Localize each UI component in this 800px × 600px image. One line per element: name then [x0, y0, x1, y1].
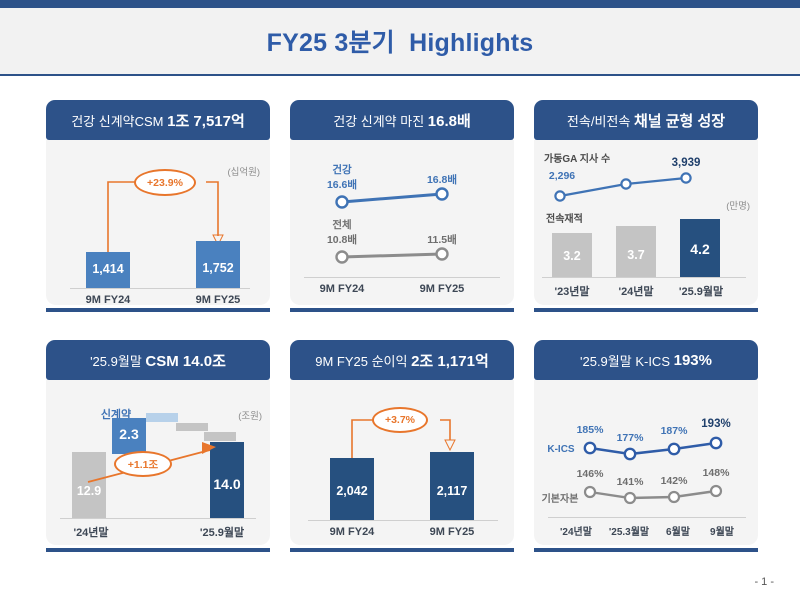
panel-net-income: 9M FY25 순이익 2조 1,171억 +3.7% 2,042 2,117 …: [290, 340, 514, 552]
bar-value: 1,752: [196, 261, 240, 275]
bar-9m-fy24: 2,042: [330, 458, 374, 520]
panel-header: 건강 신계약 마진 16.8배: [290, 100, 514, 140]
panel-health-new-margin: 건강 신계약 마진 16.8배 건강 16.6배 16.8배 전체 10.8배 …: [290, 100, 514, 312]
panel-title-bold: 193%: [674, 352, 712, 369]
panel-body: (조원) 신계약 12.9 2.3 14.0: [46, 380, 270, 545]
x-label: 9M FY24: [72, 294, 144, 305]
panel-title-normal: 건강 신계약CSM: [71, 111, 167, 130]
panel-title-bold: 채널 균형 성장: [634, 110, 725, 131]
x-axis: [308, 520, 498, 521]
panel-body: 건강 16.6배 16.8배 전체 10.8배 11.5배 9M FY24 9M…: [290, 140, 514, 305]
panel-title-normal: 9M FY25 순이익: [315, 351, 411, 370]
bar-value: 1,414: [86, 262, 130, 276]
series-label-basic-capital: 기본자본: [534, 490, 586, 505]
point-label: 11.5배: [412, 232, 472, 247]
x-label: '25.3월말: [598, 523, 660, 538]
panel-channel-growth: 전속/비전속 채널 균형 성장 가동GA 지사 수 2,296 3,939 (만…: [534, 100, 758, 312]
panel-header: 건강 신계약CSM 1조 7,517억: [46, 100, 270, 140]
bar-2024: 3.7: [616, 226, 656, 277]
x-label: '25.9월말: [670, 283, 732, 299]
panel-title-bold: CSM 14.0조: [145, 350, 226, 371]
panel-title-normal: 전속/비전속: [567, 111, 634, 130]
growth-badge: +23.9%: [134, 169, 196, 196]
series-label-health: 건강: [312, 162, 372, 177]
title-band: FY25 3분기 Highlights: [0, 8, 800, 76]
panel-header: 전속/비전속 채널 균형 성장: [534, 100, 758, 140]
x-label: 9M FY24: [306, 283, 378, 295]
point-label: 3,939: [658, 157, 714, 169]
unit-label: (만명): [726, 198, 750, 212]
panel-health-new-csm: 건강 신계약CSM 1조 7,517억 (십억원) +23.9% 1,414 1…: [46, 100, 270, 312]
bar-9m-fy25: 2,117: [430, 452, 474, 520]
x-axis: [60, 518, 256, 519]
panel-body: 가동GA 지사 수 2,296 3,939 (만명) 전속재적 3.2 3.7: [534, 140, 758, 305]
bar-9m-fy25: 1,752: [196, 241, 240, 288]
bar-value: 4.2: [680, 241, 720, 257]
panel-title-bold: 1조 7,517억: [167, 110, 245, 131]
panel-footer-accent: [46, 308, 270, 312]
panel-title-bold: 2조 1,171억: [411, 350, 489, 371]
slide: FY25 3분기 Highlights 건강 신계약CSM 1조 7,517억 …: [0, 0, 800, 600]
point-label: 2,296: [534, 170, 590, 182]
x-axis: [304, 277, 500, 278]
x-label: 9M FY25: [182, 294, 254, 305]
panel-header: '25.9월말 K-ICS 193%: [534, 340, 758, 380]
panel-title-normal: '25.9월말: [90, 351, 145, 370]
x-label: 9M FY24: [316, 526, 388, 538]
panel-grid: 건강 신계약CSM 1조 7,517억 (십억원) +23.9% 1,414 1…: [46, 100, 758, 552]
bar-value: 2,042: [330, 484, 374, 498]
panel-footer-accent: [534, 308, 758, 312]
x-axis: [542, 277, 746, 278]
series-label-kics: K-ICS: [538, 444, 584, 455]
bar-2023: 3.2: [552, 233, 592, 277]
x-axis: [548, 517, 746, 518]
series-label-total: 전체: [312, 217, 372, 232]
growth-badge: +3.7%: [372, 407, 428, 433]
panel-footer-accent: [290, 308, 514, 312]
point-label: 10.8배: [312, 232, 372, 247]
x-label: '24년말: [550, 523, 602, 538]
panel-title-normal: 건강 신계약 마진: [333, 111, 428, 130]
bar-series-caption: 전속재적: [546, 210, 583, 225]
panel-csm-total: '25.9월말 CSM 14.0조 (조원) 신계약 12.9 2.3 14.0: [46, 340, 270, 552]
point-label: 16.8배: [412, 172, 472, 187]
x-label: '24년말: [606, 283, 666, 299]
panel-header: 9M FY25 순이익 2조 1,171억: [290, 340, 514, 380]
panel-body: (십억원) +23.9% 1,414 1,752 9M FY24 9M FY25: [46, 140, 270, 305]
x-label: '23년말: [542, 283, 602, 299]
point-label: 193%: [688, 418, 744, 430]
panel-kics: '25.9월말 K-ICS 193% K-ICS 185% 17: [534, 340, 758, 552]
bar-value: 2,117: [430, 484, 474, 498]
x-axis: [70, 288, 250, 289]
bar-value: 3.7: [616, 248, 656, 262]
x-label: 9M FY25: [406, 283, 478, 295]
bar-2025-sep: 4.2: [680, 219, 720, 277]
top-accent-bar: [0, 0, 800, 8]
bar-9m-fy24: 1,414: [86, 252, 130, 288]
x-label: '24년말: [56, 524, 126, 540]
panel-title-normal: '25.9월말 K-ICS: [580, 351, 674, 370]
panel-body: +3.7% 2,042 2,117 9M FY24 9M FY25: [290, 380, 514, 545]
kics-line-chart: [534, 380, 758, 545]
bar-value: 3.2: [552, 249, 592, 263]
panel-header: '25.9월말 CSM 14.0조: [46, 340, 270, 380]
panel-body: K-ICS 185% 177% 187% 193% 기본자본 146% 141%…: [534, 380, 758, 545]
point-label: 16.6배: [312, 177, 372, 192]
panel-title-bold: 16.8배: [428, 110, 471, 131]
panel-footer-accent: [290, 548, 514, 552]
panel-footer-accent: [46, 548, 270, 552]
x-label: 6월말: [656, 523, 700, 538]
page-number: - 1 -: [754, 576, 774, 588]
x-label: 9월말: [700, 523, 744, 538]
page-title: FY25 3분기 Highlights: [267, 23, 534, 59]
panel-footer-accent: [534, 548, 758, 552]
x-label: '25.9월말: [186, 524, 258, 540]
point-label: 148%: [688, 467, 744, 479]
x-label: 9M FY25: [416, 526, 488, 538]
delta-badge: +1.1조: [114, 451, 172, 477]
